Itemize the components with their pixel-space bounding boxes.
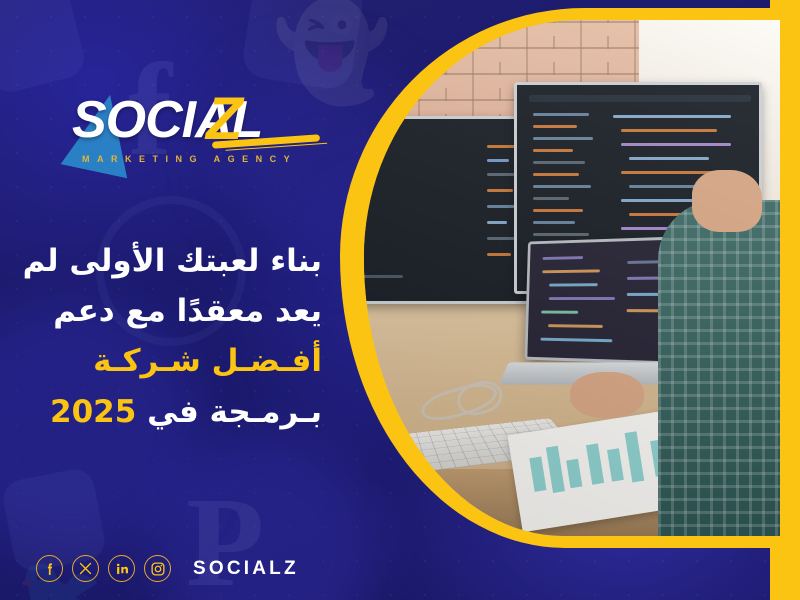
- headline-line-1: بناء لعبتك الأولى لم: [2, 236, 322, 286]
- headline-line-2: يعد معقدًا مع دعم: [2, 286, 322, 336]
- photo-overlay: [364, 20, 780, 536]
- footer-brand-name: SOCIALZ: [193, 558, 299, 580]
- x-twitter-icon[interactable]: [72, 555, 99, 582]
- headline-line-4: بـرمـجة في 2025: [2, 387, 322, 437]
- workstation-photo: [364, 20, 780, 536]
- logo-tagline: MARKETING AGENCY: [82, 154, 297, 164]
- headline-line-4-text: بـرمـجة في: [147, 394, 322, 430]
- promo-poster: 👻 f P 🐦: [0, 0, 800, 600]
- footer-bar: SOCIALZ: [36, 555, 299, 582]
- headline-block: بناء لعبتك الأولى لم يعد معقدًا مع دعم أ…: [2, 236, 322, 437]
- headline-line-3: أفـضـل شـركـة: [2, 336, 322, 386]
- logo: SOCIAL Z MARKETING AGENCY: [60, 88, 320, 176]
- facebook-icon[interactable]: [36, 555, 63, 582]
- headline-year: 2025: [50, 394, 136, 430]
- instagram-icon[interactable]: [144, 555, 171, 582]
- linkedin-icon[interactable]: [108, 555, 135, 582]
